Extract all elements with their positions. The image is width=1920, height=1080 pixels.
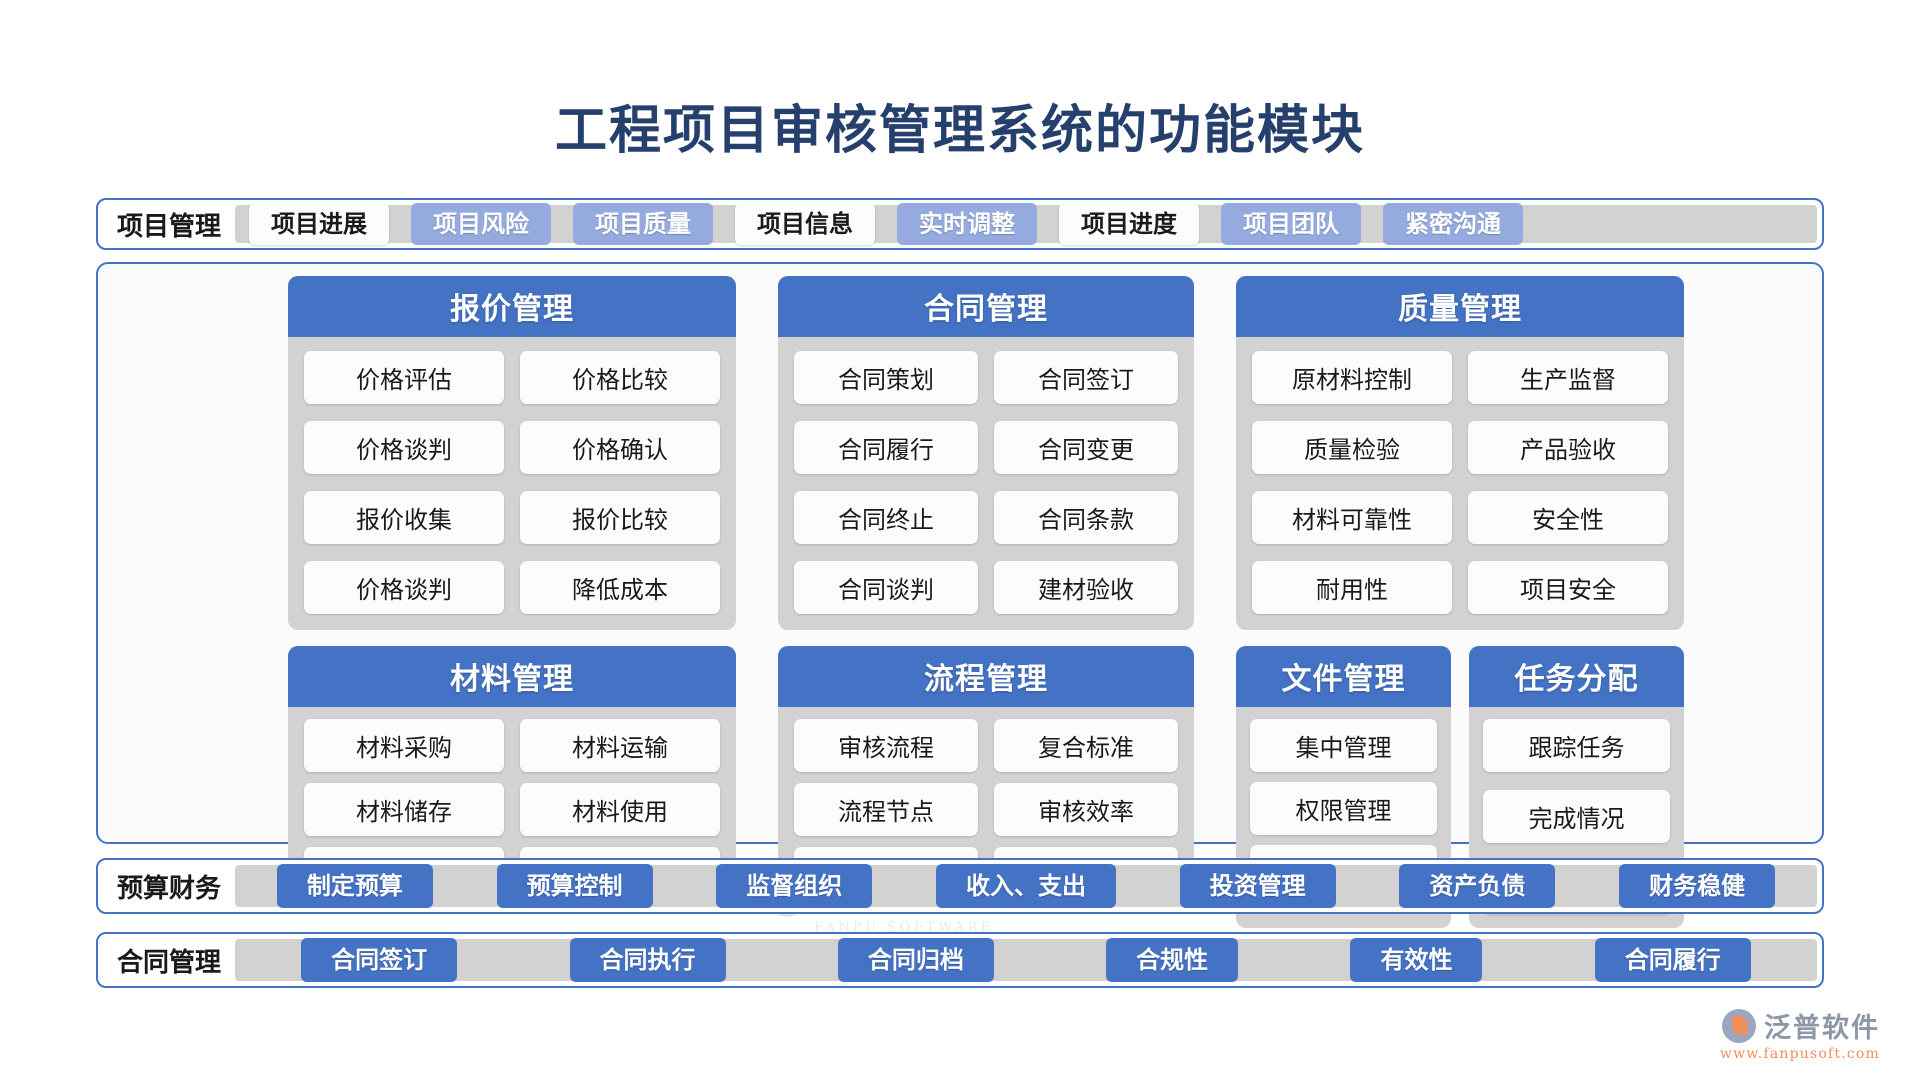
card-item[interactable]: 价格评估 xyxy=(304,351,504,404)
card-item[interactable]: 合同条款 xyxy=(994,491,1178,544)
card-item[interactable]: 生产监督 xyxy=(1468,351,1668,404)
budget-finance-band: 预算财务 制定预算预算控制监督组织收入、支出投资管理资产负债财务稳健 xyxy=(96,858,1824,914)
card-item[interactable]: 价格谈判 xyxy=(304,561,504,614)
card-item[interactable]: 跟踪任务 xyxy=(1483,719,1670,772)
card-item[interactable]: 审核效率 xyxy=(994,783,1178,836)
card-item[interactable]: 耐用性 xyxy=(1252,561,1452,614)
band-label-budget: 预算财务 xyxy=(103,865,235,907)
card-item[interactable]: 合同终止 xyxy=(794,491,978,544)
card-item[interactable]: 材料运输 xyxy=(520,719,720,772)
card-item[interactable]: 完成情况 xyxy=(1483,790,1670,843)
card-item[interactable]: 合同谈判 xyxy=(794,561,978,614)
card-quality-management[interactable]: 质量管理 原材料控制生产监督质量检验产品验收材料可靠性安全性耐用性项目安全 xyxy=(1236,276,1684,630)
card-items-quote: 价格评估价格比较价格谈判价格确认报价收集报价比较价格谈判降低成本 xyxy=(288,337,736,618)
band-track-contract: 合同签订合同执行合同归档合规性有效性合同履行 xyxy=(235,939,1817,981)
band-chip[interactable]: 项目信息 xyxy=(735,203,875,245)
card-item[interactable]: 流程节点 xyxy=(794,783,978,836)
band-label-project: 项目管理 xyxy=(103,205,235,243)
card-item[interactable]: 价格比较 xyxy=(520,351,720,404)
card-item[interactable]: 报价比较 xyxy=(520,491,720,544)
card-item[interactable]: 材料可靠性 xyxy=(1252,491,1452,544)
diagram-page: 工程项目审核管理系统的功能模块 项目管理 项目进展项目风险项目质量项目信息实时调… xyxy=(0,0,1920,1080)
card-title-task: 任务分配 xyxy=(1469,646,1684,707)
card-item[interactable]: 材料使用 xyxy=(520,783,720,836)
card-item[interactable]: 报价收集 xyxy=(304,491,504,544)
band-chip[interactable]: 合同履行 xyxy=(1595,938,1751,982)
band-chip[interactable]: 制定预算 xyxy=(277,864,433,908)
band-chip[interactable]: 资产负债 xyxy=(1399,864,1555,908)
project-management-band: 项目管理 项目进展项目风险项目质量项目信息实时调整项目进度项目团队紧密沟通 xyxy=(96,198,1824,250)
card-items-contract: 合同策划合同签订合同履行合同变更合同终止合同条款合同谈判建材验收 xyxy=(778,337,1194,618)
card-item[interactable]: 材料采购 xyxy=(304,719,504,772)
band-chip[interactable]: 项目风险 xyxy=(411,203,551,245)
fanpu-logo: 泛普软件 www.fanpusoft.com xyxy=(1720,1006,1880,1062)
card-item[interactable]: 原材料控制 xyxy=(1252,351,1452,404)
card-item[interactable]: 材料储存 xyxy=(304,783,504,836)
card-items-quality: 原材料控制生产监督质量检验产品验收材料可靠性安全性耐用性项目安全 xyxy=(1236,337,1684,618)
card-item[interactable]: 价格确认 xyxy=(520,421,720,474)
card-item[interactable]: 建材验收 xyxy=(994,561,1178,614)
card-title-contract: 合同管理 xyxy=(778,276,1194,337)
card-item[interactable]: 权限管理 xyxy=(1250,782,1437,835)
card-item[interactable]: 复合标准 xyxy=(994,719,1178,772)
card-title-material: 材料管理 xyxy=(288,646,736,707)
card-item[interactable]: 价格谈判 xyxy=(304,421,504,474)
band-chip[interactable]: 有效性 xyxy=(1350,938,1482,982)
cards-row-1: 报价管理 价格评估价格比较价格谈判价格确认报价收集报价比较价格谈判降低成本 合同… xyxy=(288,276,1810,630)
band-chip[interactable]: 合同归档 xyxy=(838,938,994,982)
band-chip[interactable]: 项目进展 xyxy=(249,203,389,245)
band-chip[interactable]: 紧密沟通 xyxy=(1383,203,1523,245)
logo-company-name: 泛普软件 xyxy=(1764,1006,1880,1045)
band-track-project: 项目进展项目风险项目质量项目信息实时调整项目进度项目团队紧密沟通 xyxy=(235,205,1817,243)
card-item[interactable]: 产品验收 xyxy=(1468,421,1668,474)
card-item[interactable]: 集中管理 xyxy=(1250,719,1437,772)
card-item[interactable]: 审核流程 xyxy=(794,719,978,772)
card-item[interactable]: 安全性 xyxy=(1468,491,1668,544)
logo-url: www.fanpusoft.com xyxy=(1720,1046,1880,1062)
band-chip[interactable]: 项目质量 xyxy=(573,203,713,245)
band-chip[interactable]: 监督组织 xyxy=(716,864,872,908)
card-item[interactable]: 质量检验 xyxy=(1252,421,1452,474)
cards-area: 报价管理 价格评估价格比较价格谈判价格确认报价收集报价比较价格谈判降低成本 合同… xyxy=(288,276,1810,834)
fanpu-logo-icon xyxy=(1722,1009,1756,1043)
band-chip[interactable]: 投资管理 xyxy=(1180,864,1336,908)
band-chip[interactable]: 合规性 xyxy=(1106,938,1238,982)
band-track-budget: 制定预算预算控制监督组织收入、支出投资管理资产负债财务稳健 xyxy=(235,865,1817,907)
band-chip[interactable]: 预算控制 xyxy=(497,864,653,908)
card-title-quality: 质量管理 xyxy=(1236,276,1684,337)
card-title-process: 流程管理 xyxy=(778,646,1194,707)
contract-management-band: 合同管理 合同签订合同执行合同归档合规性有效性合同履行 xyxy=(96,932,1824,988)
card-item[interactable]: 合同签订 xyxy=(994,351,1178,404)
card-contract-management[interactable]: 合同管理 合同策划合同签订合同履行合同变更合同终止合同条款合同谈判建材验收 xyxy=(778,276,1194,630)
band-chip[interactable]: 合同签订 xyxy=(301,938,457,982)
card-quote-management[interactable]: 报价管理 价格评估价格比较价格谈判价格确认报价收集报价比较价格谈判降低成本 xyxy=(288,276,736,630)
card-item[interactable]: 合同履行 xyxy=(794,421,978,474)
band-chip[interactable]: 项目团队 xyxy=(1221,203,1361,245)
band-label-contract: 合同管理 xyxy=(103,939,235,981)
band-chip[interactable]: 项目进度 xyxy=(1059,203,1199,245)
band-chip[interactable]: 收入、支出 xyxy=(936,864,1116,908)
card-item[interactable]: 降低成本 xyxy=(520,561,720,614)
card-title-quote: 报价管理 xyxy=(288,276,736,337)
band-chip[interactable]: 财务稳健 xyxy=(1619,864,1775,908)
card-item[interactable]: 合同变更 xyxy=(994,421,1178,474)
band-chip[interactable]: 实时调整 xyxy=(897,203,1037,245)
card-title-file: 文件管理 xyxy=(1236,646,1451,707)
card-item[interactable]: 项目安全 xyxy=(1468,561,1668,614)
main-modules-panel: 泛普软件 FANPU SOFTWARE 报价管理 价格评估价格比较价格谈判价格确… xyxy=(96,262,1824,844)
page-title: 工程项目审核管理系统的功能模块 xyxy=(0,88,1920,163)
band-chip[interactable]: 合同执行 xyxy=(570,938,726,982)
card-item[interactable]: 合同策划 xyxy=(794,351,978,404)
